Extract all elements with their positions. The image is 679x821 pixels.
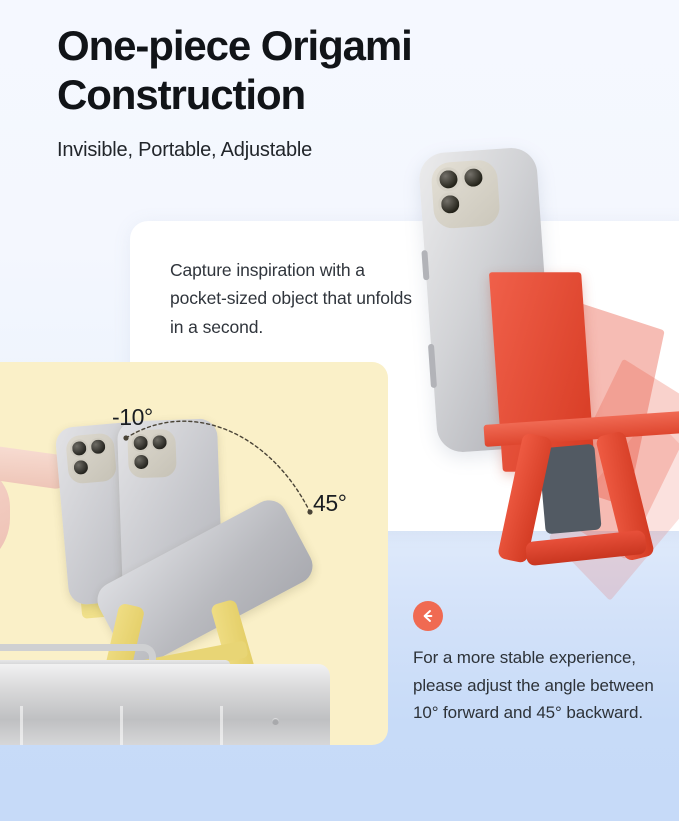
angle-demo-panel: -10° 45° (0, 362, 388, 745)
page-title-line-1: One-piece Origami (57, 22, 537, 71)
camera-lens-icon (88, 437, 108, 457)
page-title: One-piece Origami Construction (57, 22, 537, 119)
stability-note: For a more stable experience, please adj… (413, 601, 665, 727)
camera-lens-icon (150, 433, 169, 452)
red-stand-product-image (418, 150, 679, 570)
volume-button-icon (421, 250, 429, 280)
red-v-kickstand (492, 432, 679, 567)
angle-label-backward: 45° (313, 490, 347, 517)
stability-note-text: For a more stable experience, please adj… (413, 644, 665, 727)
camera-lens-icon (131, 434, 150, 453)
suitcase-rib (220, 706, 223, 745)
angle-label-forward: -10° (112, 404, 153, 431)
camera-module-icon (430, 159, 500, 229)
aluminum-suitcase (0, 630, 330, 745)
suitcase-rivet (272, 718, 279, 725)
suitcase-rib (20, 706, 23, 745)
camera-lens-icon (71, 458, 91, 478)
camera-lens-icon (132, 453, 151, 472)
suitcase-rib (120, 706, 123, 745)
camera-lens-icon (461, 165, 487, 191)
camera-module-icon (127, 429, 177, 479)
kickstand-foot (525, 530, 647, 566)
page-header: One-piece Origami Construction Invisible… (57, 22, 537, 162)
side-button-icon (428, 344, 437, 388)
camera-lens-icon (436, 167, 462, 193)
arrow-left-icon (413, 601, 443, 631)
suitcase-body (0, 664, 330, 745)
camera-lens-icon (70, 439, 90, 459)
feature-card-text: Capture inspiration with a pocket-sized … (170, 256, 420, 341)
camera-module-icon (65, 432, 117, 484)
camera-lens-icon (437, 192, 463, 218)
page-title-line-2: Construction (57, 71, 537, 120)
arrow-left-glyph (420, 608, 436, 624)
